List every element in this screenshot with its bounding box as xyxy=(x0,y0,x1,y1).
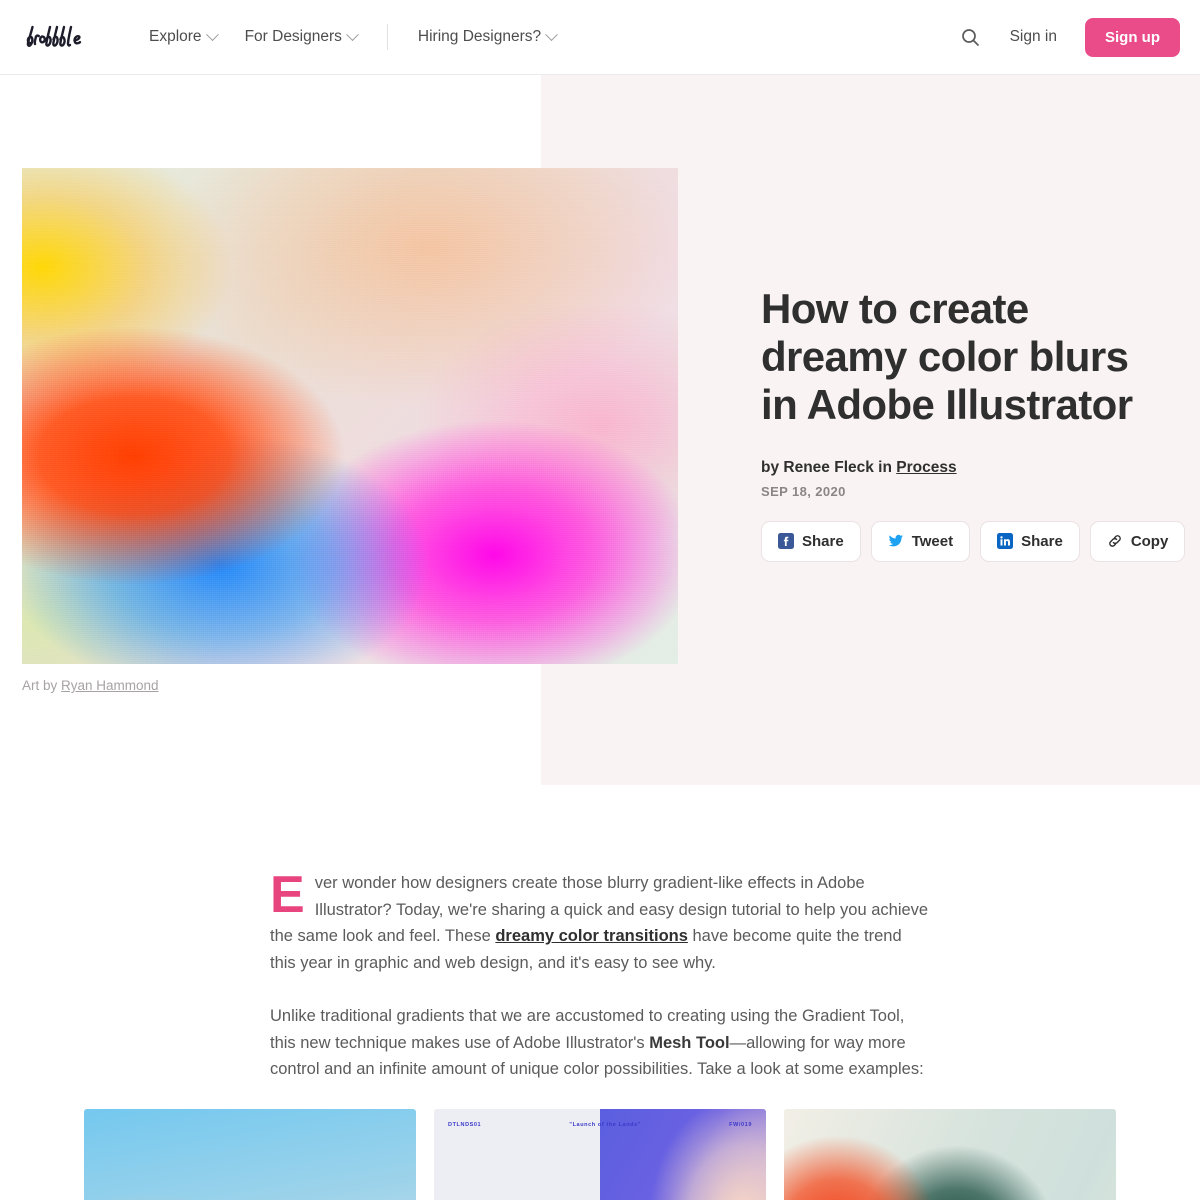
twitter-icon xyxy=(888,533,904,549)
thumbnail-2-code-center: "Launch of the Lands" xyxy=(569,1122,641,1128)
copy-link-button[interactable]: Copy xyxy=(1090,521,1186,562)
example-thumbnail-1[interactable] xyxy=(84,1109,416,1200)
share-button-label: Share xyxy=(1021,533,1063,550)
paragraph-1: Ever wonder how designers create those b… xyxy=(270,870,930,977)
thumbnail-2-code-right: FW/019 xyxy=(729,1122,752,1128)
sign-in-link[interactable]: Sign in xyxy=(994,20,1073,54)
site-header: Explore For Designers Hiring Designers? … xyxy=(0,0,1200,75)
header-actions: Sign in Sign up xyxy=(952,18,1180,57)
share-button-label: Copy xyxy=(1131,533,1169,550)
hero-section: Art by Ryan Hammond How to create dreamy… xyxy=(0,75,1200,785)
byline-author: by Renee Fleck in xyxy=(761,459,896,476)
hero-artwork-image xyxy=(22,168,678,664)
dreamy-color-transitions-link[interactable]: dreamy color transitions xyxy=(495,927,688,945)
facebook-icon xyxy=(778,533,794,549)
hero-figure: Art by Ryan Hammond xyxy=(22,168,678,693)
share-button-label: Tweet xyxy=(912,533,953,550)
link-icon xyxy=(1107,533,1123,549)
share-linkedin-button[interactable]: Share xyxy=(980,521,1080,562)
nav-item-hiring-designers[interactable]: Hiring Designers? xyxy=(404,0,570,74)
example-thumbnail-2[interactable]: DTLNDS01 "Launch of the Lands" FW/019 Da… xyxy=(434,1109,766,1200)
sign-up-button[interactable]: Sign up xyxy=(1085,18,1180,57)
hero-caption: Art by Ryan Hammond xyxy=(22,678,678,693)
article-body: Ever wonder how designers create those b… xyxy=(0,785,1200,1200)
share-button-label: Share xyxy=(802,533,844,550)
byline-category-link[interactable]: Process xyxy=(896,459,956,476)
nav-divider xyxy=(387,24,388,50)
share-row: Share Tweet Share xyxy=(761,521,1173,562)
nav-item-label: Hiring Designers? xyxy=(418,28,541,46)
hero-caption-prefix: Art by xyxy=(22,678,61,693)
nav-item-for-designers[interactable]: For Designers xyxy=(231,0,371,74)
dribbble-logo[interactable] xyxy=(20,22,110,52)
share-facebook-button[interactable]: Share xyxy=(761,521,861,562)
article-byline: by Renee Fleck in Process xyxy=(761,459,1173,477)
thumbnail-2-code-left: DTLNDS01 xyxy=(448,1122,481,1128)
search-button[interactable] xyxy=(952,18,990,56)
nav-item-label: For Designers xyxy=(245,28,342,46)
chevron-down-icon xyxy=(346,28,359,41)
paragraph-2: Unlike traditional gradients that we are… xyxy=(270,1003,930,1083)
share-twitter-button[interactable]: Tweet xyxy=(871,521,970,562)
article-body-inner: Ever wonder how designers create those b… xyxy=(270,870,930,1083)
publish-date: SEP 18, 2020 xyxy=(761,484,1173,499)
dribbble-wordmark-icon xyxy=(20,24,106,50)
search-icon xyxy=(961,28,980,47)
example-thumbnail-3[interactable] xyxy=(784,1109,1116,1200)
dropcap-letter: E xyxy=(270,874,305,917)
chevron-down-icon xyxy=(545,28,558,41)
mesh-tool-emphasis: Mesh Tool xyxy=(649,1034,729,1052)
nav-item-explore[interactable]: Explore xyxy=(135,0,231,74)
nav-item-label: Explore xyxy=(149,28,202,46)
primary-nav: Explore For Designers Hiring Designers? xyxy=(135,0,570,74)
chevron-down-icon xyxy=(206,28,219,41)
page-title: How to create dreamy color blurs in Adob… xyxy=(761,285,1173,429)
hero-caption-artist-link[interactable]: Ryan Hammond xyxy=(61,678,159,693)
article-meta: How to create dreamy color blurs in Adob… xyxy=(761,285,1173,562)
thumbnail-2-header-labels: DTLNDS01 "Launch of the Lands" FW/019 xyxy=(434,1122,766,1128)
linkedin-icon xyxy=(997,533,1013,549)
example-thumbnails: DTLNDS01 "Launch of the Lands" FW/019 Da… xyxy=(84,1109,1116,1200)
